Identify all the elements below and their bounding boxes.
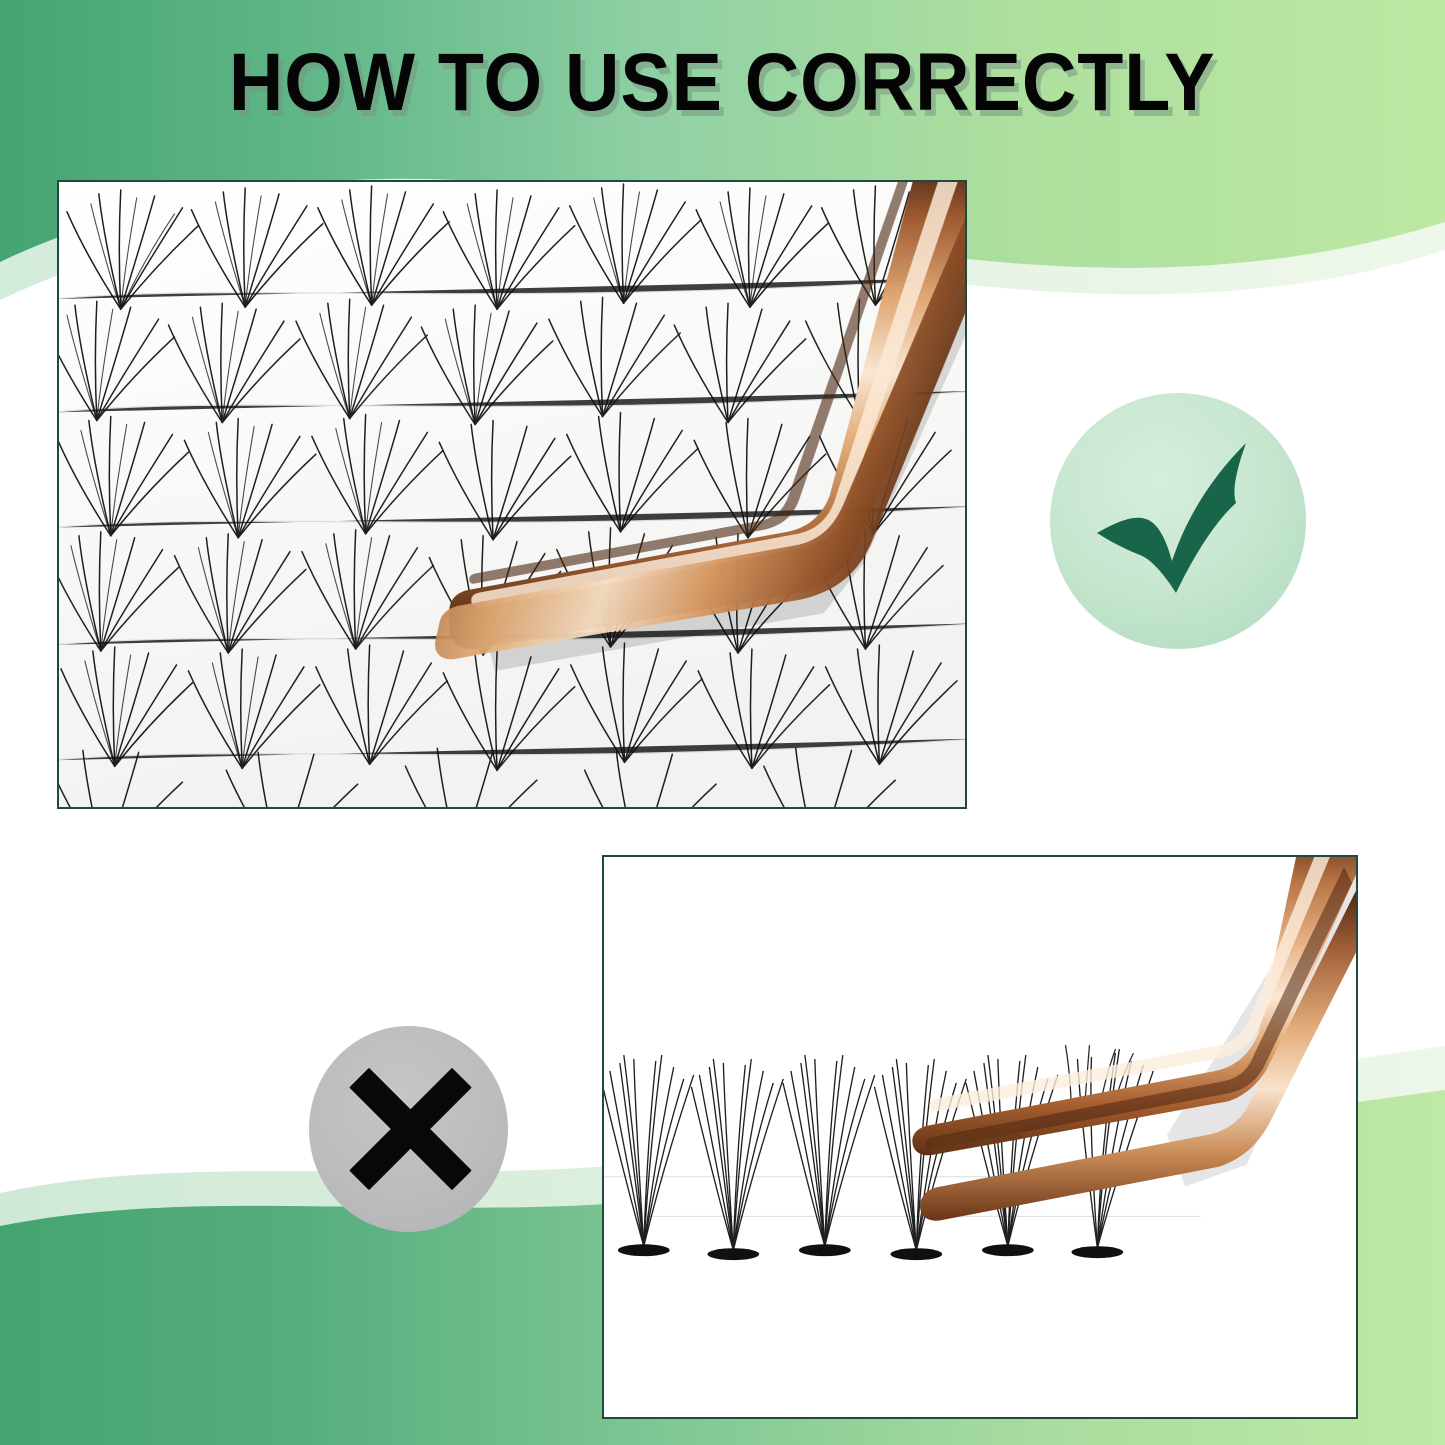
- cross-icon: [309, 1026, 508, 1232]
- correct-usage-photo: [59, 182, 965, 807]
- check-icon: [1050, 393, 1306, 649]
- page-title-text: HOW TO USE CORRECTLY: [229, 44, 1216, 122]
- correct-usage-photo-frame: [57, 180, 967, 809]
- incorrect-usage-photo: [604, 857, 1356, 1417]
- infographic-root: HOW TO USE CORRECTLY: [0, 0, 1445, 1445]
- page-title: HOW TO USE CORRECTLY: [0, 44, 1445, 122]
- check-badge: [1050, 393, 1306, 649]
- cross-badge: [309, 1026, 508, 1232]
- incorrect-usage-photo-frame: [602, 855, 1358, 1419]
